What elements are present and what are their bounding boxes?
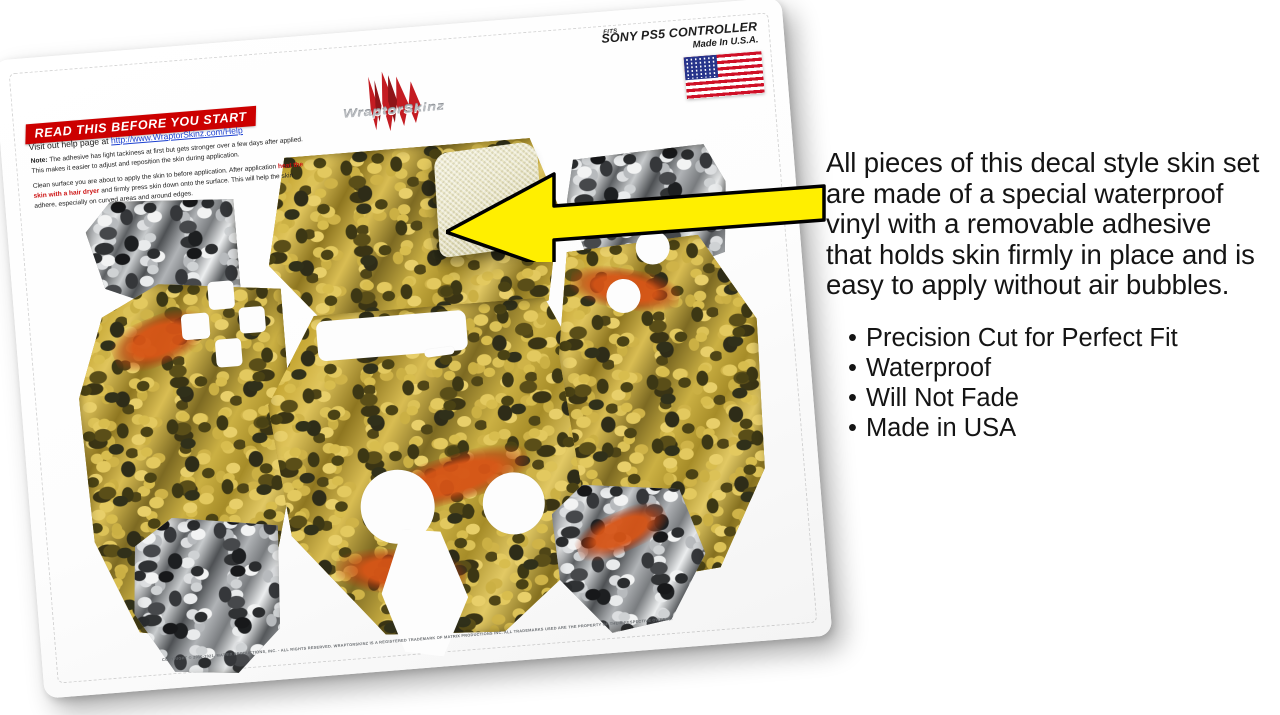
usa-flag-icon (684, 51, 765, 99)
marketing-paragraph: All pieces of this decal style skin set … (826, 148, 1262, 301)
feature-bullet: Made in USA (848, 413, 1262, 443)
flag-canton (684, 55, 719, 80)
feature-bullet-list: Precision Cut for Perfect Fit Waterproof… (848, 323, 1262, 443)
cutout-dpad-left (181, 312, 211, 340)
feature-bullet: Precision Cut for Perfect Fit (848, 323, 1262, 353)
cutout-dpad-right (238, 306, 266, 334)
peeled-corner-backing-paper (434, 141, 544, 259)
feature-bullet: Waterproof (848, 353, 1262, 383)
marketing-copy: All pieces of this decal style skin set … (826, 148, 1262, 443)
product-image-canvas: READ THIS BEFORE YOU START Visit out hel… (0, 0, 1280, 715)
wraptorskinz-logo: WraptorSkinz (316, 61, 471, 147)
note-label: Note: (31, 157, 48, 165)
decal-sheet: READ THIS BEFORE YOU START Visit out hel… (0, 0, 832, 699)
cutout-dpad-down (215, 338, 243, 368)
feature-bullet: Will Not Fade (848, 383, 1262, 413)
cutout-dpad-up (207, 280, 235, 310)
sheet-background: READ THIS BEFORE YOU START Visit out hel… (0, 0, 832, 699)
